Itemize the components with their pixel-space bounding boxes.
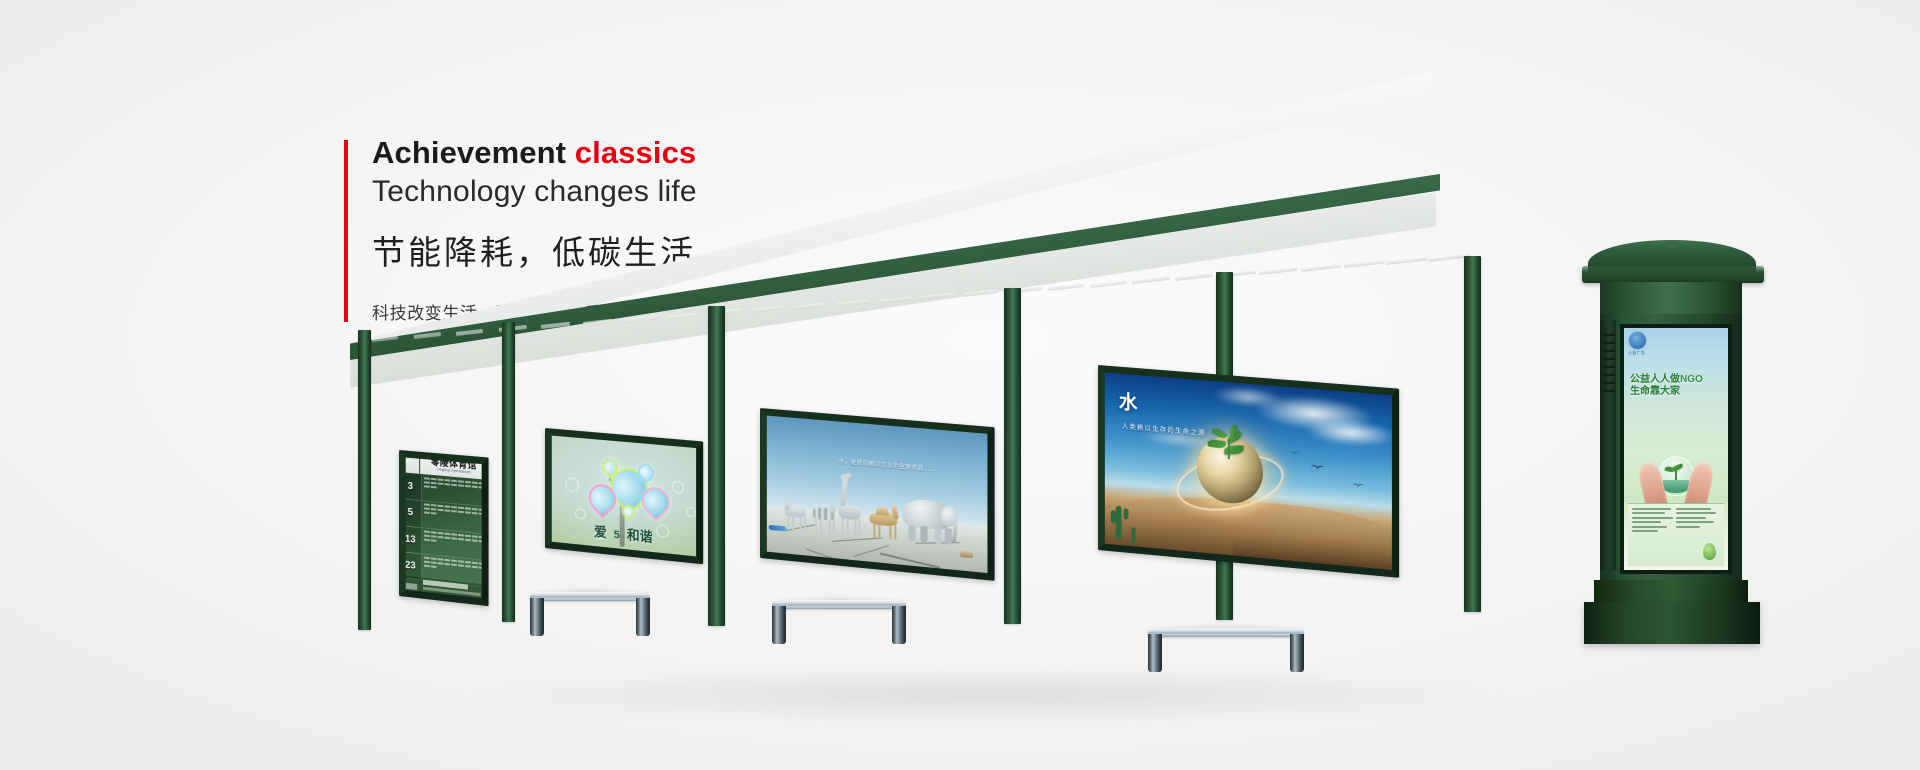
route-number: 3 xyxy=(400,473,422,500)
canopy-rib xyxy=(1132,276,1170,284)
tower-headline-line1: 公益人人做 xyxy=(1630,374,1680,385)
tower-base-upper xyxy=(1594,580,1748,604)
water-poster-title: 水 xyxy=(1119,392,1138,413)
route-board-screen: 零陵体育馆 Lingling Gymnasium 3 5 xyxy=(399,450,489,606)
bench-seat xyxy=(1148,628,1304,637)
bench-leg-right xyxy=(636,598,650,636)
station-name-en: Lingling Gymnasium xyxy=(437,469,471,475)
canopy-rib xyxy=(1343,260,1384,269)
footer-text-right xyxy=(1676,508,1720,530)
panel-screen: 爱 5 和谐 xyxy=(552,436,696,557)
bus-route-board[interactable]: 零陵体育馆 Lingling Gymnasium 3 5 xyxy=(399,450,489,606)
bench-seat xyxy=(530,592,650,601)
bird-icon xyxy=(1290,451,1299,456)
poster-word-love: 爱 xyxy=(594,521,607,541)
poster-word-harmony: 和谐 xyxy=(627,524,653,546)
bubble xyxy=(565,477,579,492)
bus-shelter: 零陵体育馆 Lingling Gymnasium 3 5 xyxy=(0,0,1920,770)
tower-poster-artwork: 公益广告 公益人人做NGO 生命靠大家 xyxy=(1624,328,1728,570)
tower-lightbox-screen[interactable]: 公益广告 公益人人做NGO 生命靠大家 xyxy=(1620,324,1732,574)
bench-leg-left xyxy=(1148,634,1162,672)
cactus xyxy=(1123,509,1128,520)
cactus xyxy=(1111,511,1116,524)
sprout xyxy=(1204,425,1256,464)
panel-screen: 水，是我们赖以生存的宝贵资源…… xyxy=(767,416,988,573)
bench-leg-left xyxy=(772,606,786,644)
tower-cap-eave xyxy=(1582,266,1764,283)
bench-leg-right xyxy=(1290,634,1304,672)
lightbox-panel-love-harmony[interactable]: 爱 5 和谐 xyxy=(545,428,703,564)
footer-text-left xyxy=(1632,508,1676,534)
route-number: 13 xyxy=(400,526,422,554)
support-post-4 xyxy=(1004,288,1021,624)
lightbox-panel-wildlife[interactable]: 水，是我们赖以生存的宝贵资源…… xyxy=(760,408,995,581)
tower-headline-line2: 生命靠大家 xyxy=(1630,386,1680,397)
bench-leg-left xyxy=(530,598,544,636)
canopy-rib xyxy=(1259,266,1299,274)
cactus xyxy=(1132,527,1136,543)
canopy-rib xyxy=(1048,283,1084,291)
route-number: 5 xyxy=(400,499,422,526)
route-board-logo-area xyxy=(400,452,419,474)
tower-neck xyxy=(1600,282,1742,316)
bird-icon xyxy=(1352,483,1363,489)
panel-screen: 水 人类赖以生存的生命之源 xyxy=(1105,373,1392,570)
poster-number: 5 xyxy=(614,529,620,542)
tower-logo-label: 公益广告 xyxy=(1628,350,1645,356)
advertising-tower[interactable]: 公益广告 公益人人做NGO 生命靠大家 xyxy=(1598,240,1748,660)
tower-side-vents xyxy=(1600,320,1616,570)
bench-seat xyxy=(772,600,906,609)
bench-leg-right xyxy=(892,606,906,644)
canopy-rib xyxy=(1301,263,1341,271)
support-post-1 xyxy=(358,330,371,630)
canopy-rib xyxy=(1174,273,1212,281)
tower-base-lower xyxy=(1584,602,1760,644)
support-post-6 xyxy=(1464,256,1481,612)
canopy-rib xyxy=(1090,279,1127,287)
support-post-3 xyxy=(708,306,725,626)
canopy-rib xyxy=(1386,257,1428,266)
bubble xyxy=(686,506,696,517)
bubble xyxy=(575,508,586,520)
tower-headline-badge: NGO xyxy=(1680,374,1703,385)
organization-logo-icon xyxy=(1629,332,1646,349)
tower-poster-footer xyxy=(1628,503,1724,566)
route-footer-label xyxy=(400,575,421,597)
tower-poster-headline: 公益人人做NGO 生命靠大家 xyxy=(1630,374,1724,398)
banner-stage: Achievement classics Technology changes … xyxy=(0,0,1920,770)
cactus xyxy=(1116,505,1122,540)
support-post-2 xyxy=(502,322,515,622)
seed-icon xyxy=(1703,543,1716,560)
route-list: 3 5 13 xyxy=(400,473,488,584)
bubble xyxy=(672,481,684,494)
bubble xyxy=(656,524,669,539)
lightbox-panel-water[interactable]: 水 人类赖以生存的生命之源 xyxy=(1098,365,1399,578)
bulb-water xyxy=(1663,480,1689,493)
bird-icon xyxy=(1310,465,1324,472)
